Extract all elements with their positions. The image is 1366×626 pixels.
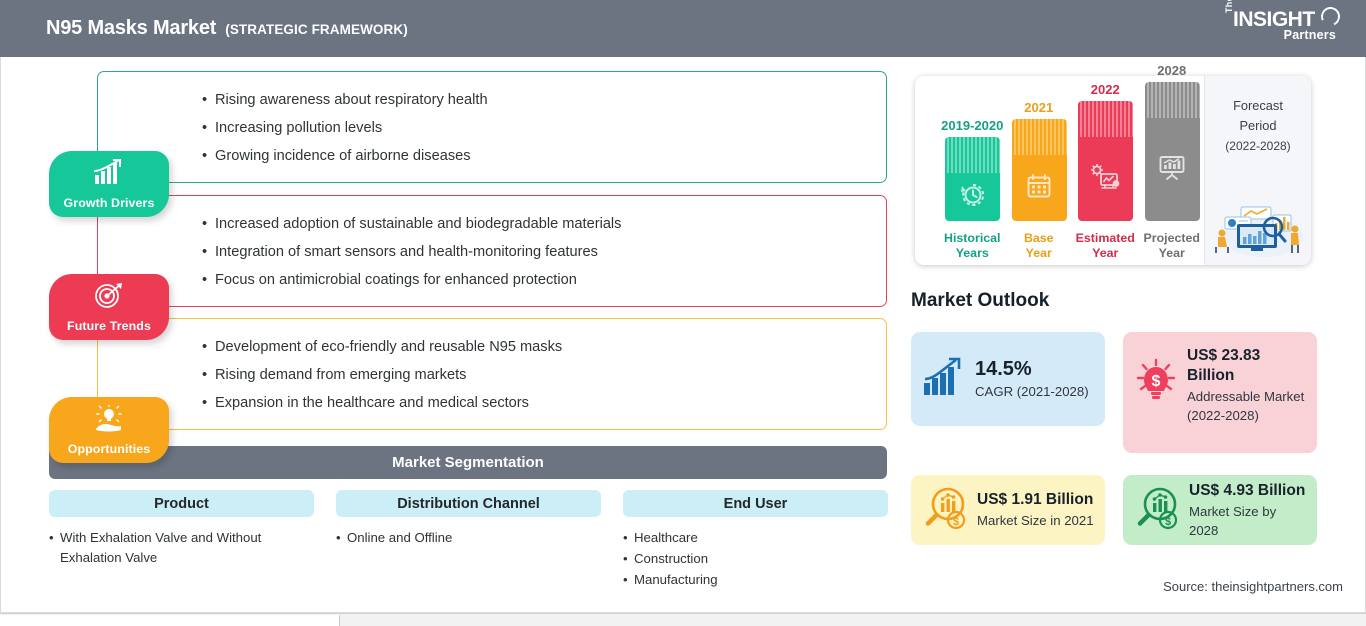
timeline-bar-item: 2019-2020HistoricalYears xyxy=(945,76,1000,265)
segment-items: Online and Offline xyxy=(336,528,601,548)
timeline-year-label: 2021 xyxy=(1006,100,1073,115)
content-area: Rising awareness about respiratory healt… xyxy=(0,57,1366,613)
market-timeline-chart: 2019-2020HistoricalYears2021BaseYear2022… xyxy=(915,76,1311,265)
list-item: Increased adoption of sustainable and bi… xyxy=(202,210,886,238)
timeline-caption-line: Projected xyxy=(1137,231,1208,246)
list-item: Online and Offline xyxy=(336,528,601,548)
page-subtitle: (STRATEGIC FRAMEWORK) xyxy=(225,22,408,37)
growth-chart-icon xyxy=(922,357,966,402)
list-item: With Exhalation Valve and Without Exhala… xyxy=(49,528,314,568)
outlook-card-market-size-2021: $ US$ 1.91 Billion Market Size in 2021 xyxy=(911,475,1105,545)
list-item: Expansion in the healthcare and medical … xyxy=(202,389,886,417)
list-item: Development of eco-friendly and reusable… xyxy=(202,333,886,361)
badge-opportunities[interactable]: Opportunities xyxy=(49,397,169,463)
forecast-title-line2: Period xyxy=(1205,116,1311,136)
segmentation-title: Market Segmentation xyxy=(392,454,544,471)
list-item: Healthcare xyxy=(623,528,888,548)
page-header: N95 Masks Market (STRATEGIC FRAMEWORK) T… xyxy=(0,0,1366,57)
bullet-list-growth-drivers: Rising awareness about respiratory healt… xyxy=(202,86,886,170)
horizontal-scrollbar[interactable] xyxy=(0,613,1366,626)
list-item: Rising demand from emerging markets xyxy=(202,361,886,389)
bar-chart-arrow-up-icon xyxy=(49,159,169,185)
badge-label: Growth Drivers xyxy=(64,196,155,217)
panel-opportunities: Development of eco-friendly and reusable… xyxy=(97,318,887,430)
outlook-label: Market Size by 2028 xyxy=(1189,502,1306,540)
page-title: N95 Masks Market xyxy=(46,17,216,40)
outlook-card-market-size-2028: $ US$ 4.93 Billion Market Size by 2028 xyxy=(1123,475,1317,545)
badge-growth-drivers[interactable]: Growth Drivers xyxy=(49,151,169,217)
analytics-gear-icon xyxy=(1091,164,1121,195)
timeline-caption-line: Year xyxy=(1004,246,1075,261)
timeline-bar-stripes xyxy=(945,137,1000,173)
panel-future-trends: Increased adoption of sustainable and bi… xyxy=(97,195,887,307)
lightbulb-dollar-icon: $ xyxy=(1134,358,1178,407)
segment-title: End User xyxy=(623,490,888,517)
timeline-year-label: 2028 xyxy=(1139,63,1206,78)
timeline-bar-item: 2028ProjectedYear xyxy=(1145,76,1200,265)
outlook-card-cagr: 14.5% CAGR (2021-2028) xyxy=(911,332,1105,426)
outlook-value: 14.5% xyxy=(975,358,1032,380)
timeline-bar-item: 2022EstimatedYear xyxy=(1078,76,1133,265)
forecast-period-panel: Forecast Period (2022-2028) xyxy=(1204,76,1311,265)
timeline-caption: EstimatedYear xyxy=(1070,231,1141,261)
badge-label: Future Trends xyxy=(67,319,151,340)
timeline-bar xyxy=(1012,119,1067,221)
timeline-bar-stripes xyxy=(1145,82,1200,118)
outlook-value: US$ 23.83 Billion xyxy=(1187,347,1260,384)
market-outlook-title: Market Outlook xyxy=(911,290,1049,312)
magnifier-chart-dollar-icon: $ xyxy=(1134,485,1180,536)
timeline-bar-body xyxy=(1078,137,1133,221)
timeline-caption-line: Base xyxy=(1004,231,1075,246)
timeline-bar xyxy=(945,137,1000,221)
outlook-card-text: US$ 23.83 Billion Addressable Market (20… xyxy=(1187,346,1306,425)
dashboard-analytics-illustration xyxy=(1211,191,1307,257)
timeline-year-label: 2022 xyxy=(1072,82,1139,97)
scrollbar-thumb[interactable] xyxy=(0,615,340,626)
timeline-caption: ProjectedYear xyxy=(1137,231,1208,261)
segment-title: Distribution Channel xyxy=(336,490,601,517)
logo-loop-icon xyxy=(1318,4,1342,28)
timeline-bar-stripes xyxy=(1012,119,1067,155)
forecast-range: (2022-2028) xyxy=(1205,136,1311,156)
timeline-caption-line: Year xyxy=(1137,246,1208,261)
outlook-card-text: US$ 4.93 Billion Market Size by 2028 xyxy=(1189,481,1306,540)
timeline-bar xyxy=(1145,82,1200,221)
timeline-caption: HistoricalYears xyxy=(937,231,1008,261)
list-item: Increasing pollution levels xyxy=(202,114,886,142)
segment-items: With Exhalation Valve and Without Exhala… xyxy=(49,528,314,568)
magnifier-chart-dollar-icon: $ xyxy=(922,485,968,536)
bullet-list-opportunities: Development of eco-friendly and reusable… xyxy=(202,333,886,417)
list-item: Rising awareness about respiratory healt… xyxy=(202,86,886,114)
timeline-caption-line: Years xyxy=(937,246,1008,261)
forecast-text: Forecast Period (2022-2028) xyxy=(1205,76,1311,156)
panel-growth-drivers: Rising awareness about respiratory healt… xyxy=(97,71,887,183)
outlook-card-addressable-market: $ US$ 23.83 Billion Addressable Market (… xyxy=(1123,332,1317,453)
segment-items: Healthcare Construction Manufacturing xyxy=(623,528,888,590)
outlook-value: US$ 1.91 Billion xyxy=(977,491,1093,508)
outlook-card-text: 14.5% CAGR (2021-2028) xyxy=(975,357,1089,401)
outlook-card-text: US$ 1.91 Billion Market Size in 2021 xyxy=(977,490,1094,530)
insight-partners-logo[interactable]: The INSIGHT Partners xyxy=(1224,7,1344,49)
history-clock-icon xyxy=(960,182,986,213)
outlook-value: US$ 4.93 Billion xyxy=(1189,482,1305,499)
source-attribution: Source: theinsightpartners.com xyxy=(1163,579,1343,594)
timeline-year-label: 2019-2020 xyxy=(939,118,1006,133)
segmentation-column-distribution-channel: Distribution Channel Online and Offline xyxy=(336,490,601,549)
timeline-bar-body xyxy=(1145,118,1200,221)
timeline-caption-line: Estimated xyxy=(1070,231,1141,246)
segmentation-column-end-user: End User Healthcare Construction Manufac… xyxy=(623,490,888,591)
list-item: Integration of smart sensors and health-… xyxy=(202,238,886,266)
market-segmentation-header: Market Segmentation xyxy=(49,446,887,479)
svg-text:$: $ xyxy=(953,516,959,528)
infographic-page: N95 Masks Market (STRATEGIC FRAMEWORK) T… xyxy=(0,0,1366,626)
bullet-list-future-trends: Increased adoption of sustainable and bi… xyxy=(202,210,886,294)
logo-partners-text: Partners xyxy=(1284,28,1336,42)
list-item: Construction xyxy=(623,549,888,569)
list-item: Focus on antimicrobial coatings for enha… xyxy=(202,266,886,294)
timeline-bars: 2019-2020HistoricalYears2021BaseYear2022… xyxy=(927,76,1199,265)
segment-title: Product xyxy=(49,490,314,517)
svg-text:$: $ xyxy=(1152,373,1161,390)
badge-label: Opportunities xyxy=(68,442,151,463)
list-item: Growing incidence of airborne diseases xyxy=(202,142,886,170)
svg-text:$: $ xyxy=(1165,516,1171,528)
timeline-bar-body xyxy=(945,173,1000,221)
title-group: N95 Masks Market (STRATEGIC FRAMEWORK) xyxy=(46,17,408,40)
outlook-label: Addressable Market (2022-2028) xyxy=(1187,387,1306,425)
segmentation-column-product: Product With Exhalation Valve and Withou… xyxy=(49,490,314,569)
outlook-label: Market Size in 2021 xyxy=(977,511,1094,530)
timeline-caption-line: Historical xyxy=(937,231,1008,246)
badge-future-trends[interactable]: Future Trends xyxy=(49,274,169,340)
forecast-title-line1: Forecast xyxy=(1205,96,1311,116)
timeline-bar-item: 2021BaseYear xyxy=(1012,76,1067,265)
timeline-bar xyxy=(1078,101,1133,221)
timeline-caption-line: Year xyxy=(1070,246,1141,261)
target-dart-icon xyxy=(49,282,169,308)
timeline-bar-stripes xyxy=(1078,101,1133,137)
timeline-caption: BaseYear xyxy=(1004,231,1075,261)
outlook-label: CAGR (2021-2028) xyxy=(975,382,1089,401)
presentation-chart-icon xyxy=(1158,154,1186,185)
calendar-icon xyxy=(1026,173,1052,204)
lightbulb-hand-icon xyxy=(49,405,169,433)
timeline-bar-body xyxy=(1012,155,1067,221)
list-item: Manufacturing xyxy=(623,570,888,590)
